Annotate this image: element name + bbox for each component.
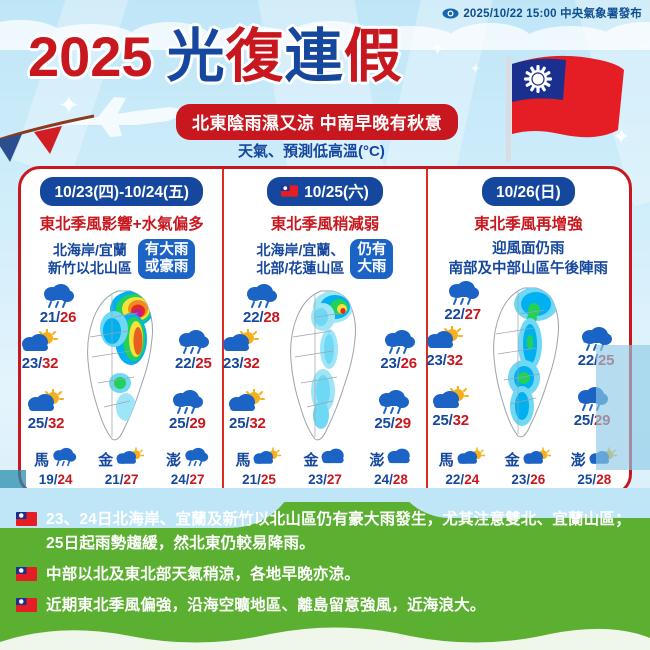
partly-cloudy-icon	[227, 389, 267, 415]
note-item: 中部以北及東北部天氣稍涼，各地早晚亦涼。	[16, 563, 634, 587]
zone-region-line2: 新竹以北山區	[48, 259, 132, 277]
taiwan-flag-icon	[16, 512, 37, 526]
temp-value: 22/27	[444, 306, 481, 323]
sparkle-icon: ✦	[430, 40, 445, 58]
title-char-3: 連	[285, 24, 344, 89]
island-item: 金 23/27	[296, 447, 354, 487]
temp-north: 22/28	[230, 283, 292, 326]
note-item: 23、24日北海岸、宜蘭及新竹以北山區仍有豪大雨發生，尤其注意雙北、宜蘭山區；2…	[16, 508, 634, 556]
temp-value: 22/28	[243, 309, 280, 326]
island-item: 馬 19/24	[27, 447, 85, 487]
taiwan-flag-icon	[281, 185, 298, 197]
partly-cloudy-icon	[425, 326, 465, 352]
cloudy-icon	[386, 447, 412, 472]
partly-cloudy-icon	[252, 447, 282, 472]
temp-value: 23/32	[22, 355, 59, 372]
temp-value: 23/32	[223, 355, 260, 372]
island-item: 馬 22/24	[433, 447, 491, 487]
note-text: 中部以北及東北部天氣稍涼，各地早晚亦涼。	[46, 563, 360, 587]
island-temp: 25/28	[577, 472, 611, 487]
title-year: 2025	[28, 29, 153, 85]
temp-southeast: 25/29	[156, 389, 218, 432]
partly-cloudy-icon	[20, 329, 60, 355]
footer-notes-section: 23、24日北海岸、宜蘭及新竹以北山區仍有豪大雨發生，尤其注意雙北、宜蘭山區；2…	[0, 488, 650, 650]
island-name: 金	[98, 449, 113, 470]
island-item: 馬 21/25	[230, 447, 288, 487]
temp-north: 22/27	[432, 280, 494, 323]
rain-icon	[244, 283, 278, 309]
temp-value: 23/32	[426, 352, 463, 369]
rain-icon	[382, 329, 416, 355]
note-text: 23、24日北海岸、宜蘭及新竹以北山區仍有豪大雨發生，尤其注意雙北、宜蘭山區；2…	[46, 508, 634, 556]
taiwan-flag-icon	[16, 598, 37, 612]
zone-warning-line2: 大雨	[357, 259, 386, 276]
island-temp: 22/24	[445, 472, 479, 487]
temp-southeast: 25/29	[362, 389, 424, 432]
island-item: 澎 24/28	[362, 447, 420, 487]
footer-wave-decoration	[0, 616, 650, 650]
map-area: 21/26 23/32 22/25	[21, 283, 222, 453]
partly-cloudy-icon	[26, 389, 66, 415]
temp-west: 23/32	[210, 329, 272, 372]
temp-west: 23/32	[414, 326, 476, 369]
zone-region-text: 北海岸/宜蘭、 北部/花蓮山區	[257, 241, 345, 278]
temp-value: 25/32	[432, 412, 469, 429]
sparkle-icon: ✦	[58, 92, 80, 118]
forecast-panel-day1: 10/23(四)-10/24(五) 東北季風影響+水氣偏多 北海岸/宜蘭 新竹以…	[21, 169, 222, 493]
zone-warning-tag: 仍有 大雨	[350, 239, 393, 279]
island-name: 澎	[571, 449, 586, 470]
zone-warning-line2: 或豪雨	[145, 259, 189, 276]
taiwan-flag-illustration	[500, 46, 630, 164]
zone-region-line2: 北部/花蓮山區	[257, 259, 345, 277]
forecast-panel-day2: 10/25(六) 東北季風稍減弱 北海岸/宜蘭、 北部/花蓮山區 仍有 大雨	[222, 169, 425, 493]
partly-cloudy-icon	[431, 386, 471, 412]
island-item: 金 21/27	[93, 447, 151, 487]
rain-icon	[170, 389, 204, 415]
cwa-eye-icon	[442, 8, 459, 19]
island-name: 馬	[439, 449, 454, 470]
island-temp: 24/27	[171, 472, 205, 487]
temp-value: 23/26	[380, 355, 417, 372]
island-temp: 21/25	[242, 472, 276, 487]
date-label: 10/25(六)	[304, 180, 369, 202]
panel-headline: 東北季風再增強	[428, 212, 629, 234]
island-name: 馬	[235, 449, 250, 470]
rain-icon	[446, 280, 480, 306]
temp-southwest: 25/32	[15, 389, 77, 432]
island-name: 金	[303, 449, 318, 470]
rain-icon	[376, 389, 410, 415]
island-temp: 24/28	[374, 472, 408, 487]
island-temp: 23/27	[308, 472, 342, 487]
panel-zone: 北海岸/宜蘭 新竹以北山區 有大雨 或豪雨	[21, 239, 222, 279]
temp-southwest: 25/32	[420, 386, 482, 429]
zone-region-text: 北海岸/宜蘭 新竹以北山區	[48, 241, 132, 278]
date-label: 10/23(四)-10/24(五)	[54, 180, 188, 202]
sparkle-icon: ✦	[470, 62, 481, 75]
zone-warning-line1: 有大雨	[145, 242, 189, 259]
zone-center-line1: 迎風面仍雨	[428, 239, 629, 259]
island-temp: 21/27	[105, 472, 139, 487]
zone-region-line1: 北海岸/宜蘭、	[257, 241, 345, 259]
subtitle-line: 天氣、預測低高溫(°C)	[238, 140, 385, 161]
partly-cloudy-icon	[522, 447, 552, 472]
poster-stage: ✦ ✦ ✦ ✦ 2025/10/22 15:00 中央氣象署發布 2025 光復…	[0, 0, 650, 650]
partly-cloudy-icon	[115, 447, 145, 472]
zone-region-line1: 北海岸/宜蘭	[48, 241, 132, 259]
island-name: 澎	[166, 449, 181, 470]
island-name: 金	[505, 449, 520, 470]
notes-list: 23、24日北海岸、宜蘭及新竹以北山區仍有豪大雨發生，尤其注意雙北、宜蘭山區；2…	[0, 508, 650, 625]
taiwan-flag-icon	[16, 567, 37, 581]
island-temp: 23/26	[511, 472, 545, 487]
temp-value: 25/29	[169, 415, 206, 432]
forecast-card: 10/23(四)-10/24(五) 東北季風影響+水氣偏多 北海岸/宜蘭 新竹以…	[18, 166, 632, 496]
panel-headline: 東北季風稍減弱	[224, 212, 425, 234]
zone-warning-line1: 仍有	[357, 242, 386, 259]
map-area: 22/28 23/32 23/26 25/32 25/29	[224, 283, 425, 453]
right-accent-bar	[596, 345, 650, 470]
partly-cloudy-icon	[456, 447, 486, 472]
island-item: 澎 24/27	[159, 447, 217, 487]
date-pill: 10/23(四)-10/24(五)	[40, 177, 202, 206]
title-char-2: 復	[226, 24, 285, 89]
subtitle-pill: 北東陰雨濕又涼 中南早晚有秋意	[176, 104, 458, 140]
cloudy-icon	[320, 447, 346, 472]
temp-value: 25/29	[374, 415, 411, 432]
date-pill: 10/26(日)	[482, 177, 575, 206]
note-item: 近期東北季風偏強，沿海空曠地區、離島留意強風，近海浪大。	[16, 594, 634, 618]
partly-cloudy-icon	[221, 329, 261, 355]
page-title: 2025 光復連假	[28, 28, 403, 86]
title-char-4: 假	[344, 24, 403, 89]
date-label: 10/26(日)	[496, 180, 561, 202]
temp-value: 25/32	[229, 415, 266, 432]
temp-southwest: 25/32	[216, 389, 278, 432]
temp-north: 21/26	[27, 283, 89, 326]
temp-value: 22/25	[175, 355, 212, 372]
zone-center-line2: 南部及中部山區午後陣雨	[428, 259, 629, 279]
issued-text: 2025/10/22 15:00 中央氣象署發布	[463, 5, 642, 21]
temp-value: 21/26	[40, 309, 77, 326]
zone-warning-tag: 有大雨 或豪雨	[138, 239, 196, 279]
island-item: 金 23/26	[499, 447, 557, 487]
title-char-1: 光	[167, 24, 226, 89]
issued-stamp: 2025/10/22 15:00 中央氣象署發布	[442, 5, 642, 21]
rain-icon	[183, 447, 209, 472]
rain-icon	[41, 283, 75, 309]
note-text: 近期東北季風偏強，沿海空曠地區、離島留意強風，近海浪大。	[46, 594, 486, 618]
date-pill: 10/25(六)	[267, 177, 383, 206]
temp-west: 23/32	[9, 329, 71, 372]
island-forecast-row: 馬 19/24 金 21/27 澎 24/27	[21, 447, 222, 487]
island-temp: 19/24	[39, 472, 73, 487]
panel-headline: 東北季風影響+水氣偏多	[21, 212, 222, 234]
temp-value: 25/32	[28, 415, 65, 432]
island-name: 馬	[34, 449, 49, 470]
panel-zone: 北海岸/宜蘭、 北部/花蓮山區 仍有 大雨	[224, 239, 425, 279]
rain-icon	[176, 329, 210, 355]
rain-icon	[51, 447, 77, 472]
panel-zone: 迎風面仍雨 南部及中部山區午後陣雨	[428, 239, 629, 280]
island-name: 澎	[369, 449, 384, 470]
island-forecast-row: 馬 21/25 金 23/27 澎 24/28	[224, 447, 425, 487]
